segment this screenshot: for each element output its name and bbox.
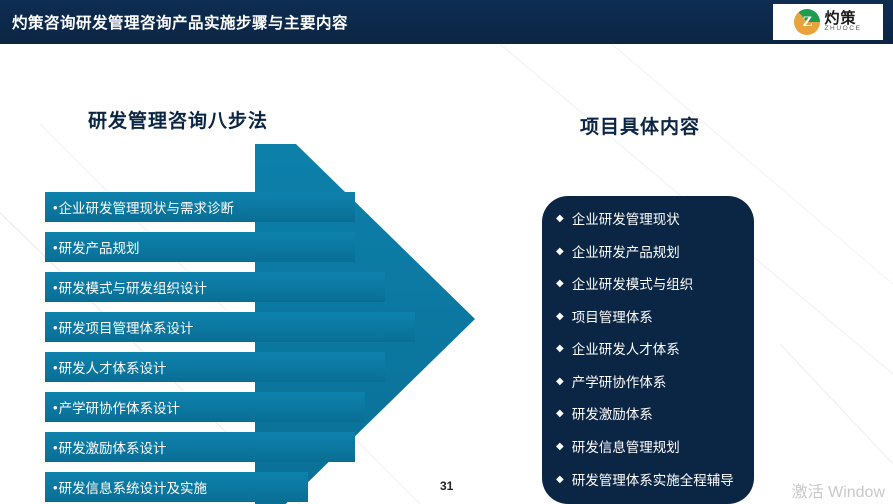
project-content-panel: ◆ 企业研发管理现状 ◆ 企业研发产品规划 ◆ 企业研发模式与组织 ◆ 项目管理… bbox=[542, 196, 754, 504]
panel-item-label: 产学研协作体系 bbox=[572, 373, 667, 393]
step-bullet: • bbox=[53, 280, 58, 295]
step-bullet: • bbox=[53, 440, 58, 455]
step-bar-1[interactable]: • 企业研发管理现状与需求诊断 bbox=[45, 192, 355, 222]
panel-list-item[interactable]: ◆ 研发管理体系实施全程辅导 bbox=[556, 471, 744, 491]
step-bullet: • bbox=[53, 360, 58, 375]
panel-item-label: 企业研发管理现状 bbox=[572, 210, 680, 230]
diamond-icon: ◆ bbox=[556, 438, 564, 455]
slide-body: 研发管理咨询八步法 项目具体内容 • 企业研发管理现状与需求诊断 • 研发产品规… bbox=[0, 44, 893, 504]
panel-item-label: 研发信息管理规划 bbox=[572, 438, 680, 458]
step-bar-7[interactable]: • 研发激励体系设计 bbox=[45, 432, 355, 462]
header-title: 灼策咨询研发管理咨询产品实施步骤与主要内容 bbox=[12, 11, 348, 33]
diamond-icon: ◆ bbox=[556, 373, 564, 390]
page-number: 31 bbox=[440, 479, 453, 493]
diamond-icon: ◆ bbox=[556, 340, 564, 357]
logo-circle-icon bbox=[794, 9, 820, 35]
diamond-icon: ◆ bbox=[556, 243, 564, 260]
step-label: 研发信息系统设计及实施 bbox=[59, 477, 208, 497]
brand-logo: 灼策 ZHUOCE bbox=[773, 4, 883, 40]
diamond-icon: ◆ bbox=[556, 471, 564, 488]
panel-item-label: 研发管理体系实施全程辅导 bbox=[572, 471, 734, 491]
panel-list-item[interactable]: ◆ 项目管理体系 bbox=[556, 308, 744, 328]
diamond-icon: ◆ bbox=[556, 308, 564, 325]
step-bar-2[interactable]: • 研发产品规划 bbox=[45, 232, 355, 262]
step-bullet: • bbox=[53, 240, 58, 255]
panel-list-item[interactable]: ◆ 产学研协作体系 bbox=[556, 373, 744, 393]
step-bullet: • bbox=[53, 200, 58, 215]
step-bar-3[interactable]: • 研发模式与研发组织设计 bbox=[45, 272, 385, 302]
step-bar-8[interactable]: • 研发信息系统设计及实施 bbox=[45, 472, 308, 502]
right-column-title: 项目具体内容 bbox=[580, 112, 700, 139]
diamond-icon: ◆ bbox=[556, 275, 564, 292]
step-bullet: • bbox=[53, 320, 58, 335]
panel-item-label: 企业研发人才体系 bbox=[572, 340, 680, 360]
panel-list-item[interactable]: ◆ 企业研发管理现状 bbox=[556, 210, 744, 230]
panel-list-item[interactable]: ◆ 企业研发模式与组织 bbox=[556, 275, 744, 295]
step-label: 研发模式与研发组织设计 bbox=[59, 277, 208, 297]
step-bullet: • bbox=[53, 480, 58, 495]
logo-text: 灼策 ZHUOCE bbox=[824, 11, 861, 34]
panel-item-label: 企业研发模式与组织 bbox=[572, 275, 694, 295]
activate-windows-watermark: 激活 Window bbox=[792, 478, 885, 502]
slide-header: 灼策咨询研发管理咨询产品实施步骤与主要内容 灼策 ZHUOCE bbox=[0, 0, 893, 44]
step-label: 研发激励体系设计 bbox=[59, 437, 167, 457]
step-label: 研发人才体系设计 bbox=[59, 357, 167, 377]
step-bar-4[interactable]: • 研发项目管理体系设计 bbox=[45, 312, 415, 342]
panel-list-item[interactable]: ◆ 研发激励体系 bbox=[556, 405, 744, 425]
step-label: 研发项目管理体系设计 bbox=[59, 317, 194, 337]
panel-item-label: 企业研发产品规划 bbox=[572, 243, 680, 263]
panel-list-item[interactable]: ◆ 研发信息管理规划 bbox=[556, 438, 744, 458]
panel-item-label: 研发激励体系 bbox=[572, 405, 653, 425]
step-label: 产学研协作体系设计 bbox=[59, 397, 181, 417]
logo-name-en: ZHUOCE bbox=[824, 26, 861, 33]
step-bullet: • bbox=[53, 400, 58, 415]
step-label: 研发产品规划 bbox=[59, 237, 140, 257]
diamond-icon: ◆ bbox=[556, 210, 564, 227]
panel-list-item[interactable]: ◆ 企业研发产品规划 bbox=[556, 243, 744, 263]
panel-item-label: 项目管理体系 bbox=[572, 308, 653, 328]
logo-name-cn: 灼策 bbox=[824, 11, 861, 27]
diamond-icon: ◆ bbox=[556, 405, 564, 422]
panel-list-item[interactable]: ◆ 企业研发人才体系 bbox=[556, 340, 744, 360]
step-bar-6[interactable]: • 产学研协作体系设计 bbox=[45, 392, 365, 422]
eight-step-arrow-diagram: • 企业研发管理现状与需求诊断 • 研发产品规划 • 研发模式与研发组织设计 •… bbox=[45, 144, 475, 504]
step-bar-5[interactable]: • 研发人才体系设计 bbox=[45, 352, 385, 382]
left-column-title: 研发管理咨询八步法 bbox=[88, 106, 268, 133]
step-label: 企业研发管理现状与需求诊断 bbox=[59, 197, 235, 217]
